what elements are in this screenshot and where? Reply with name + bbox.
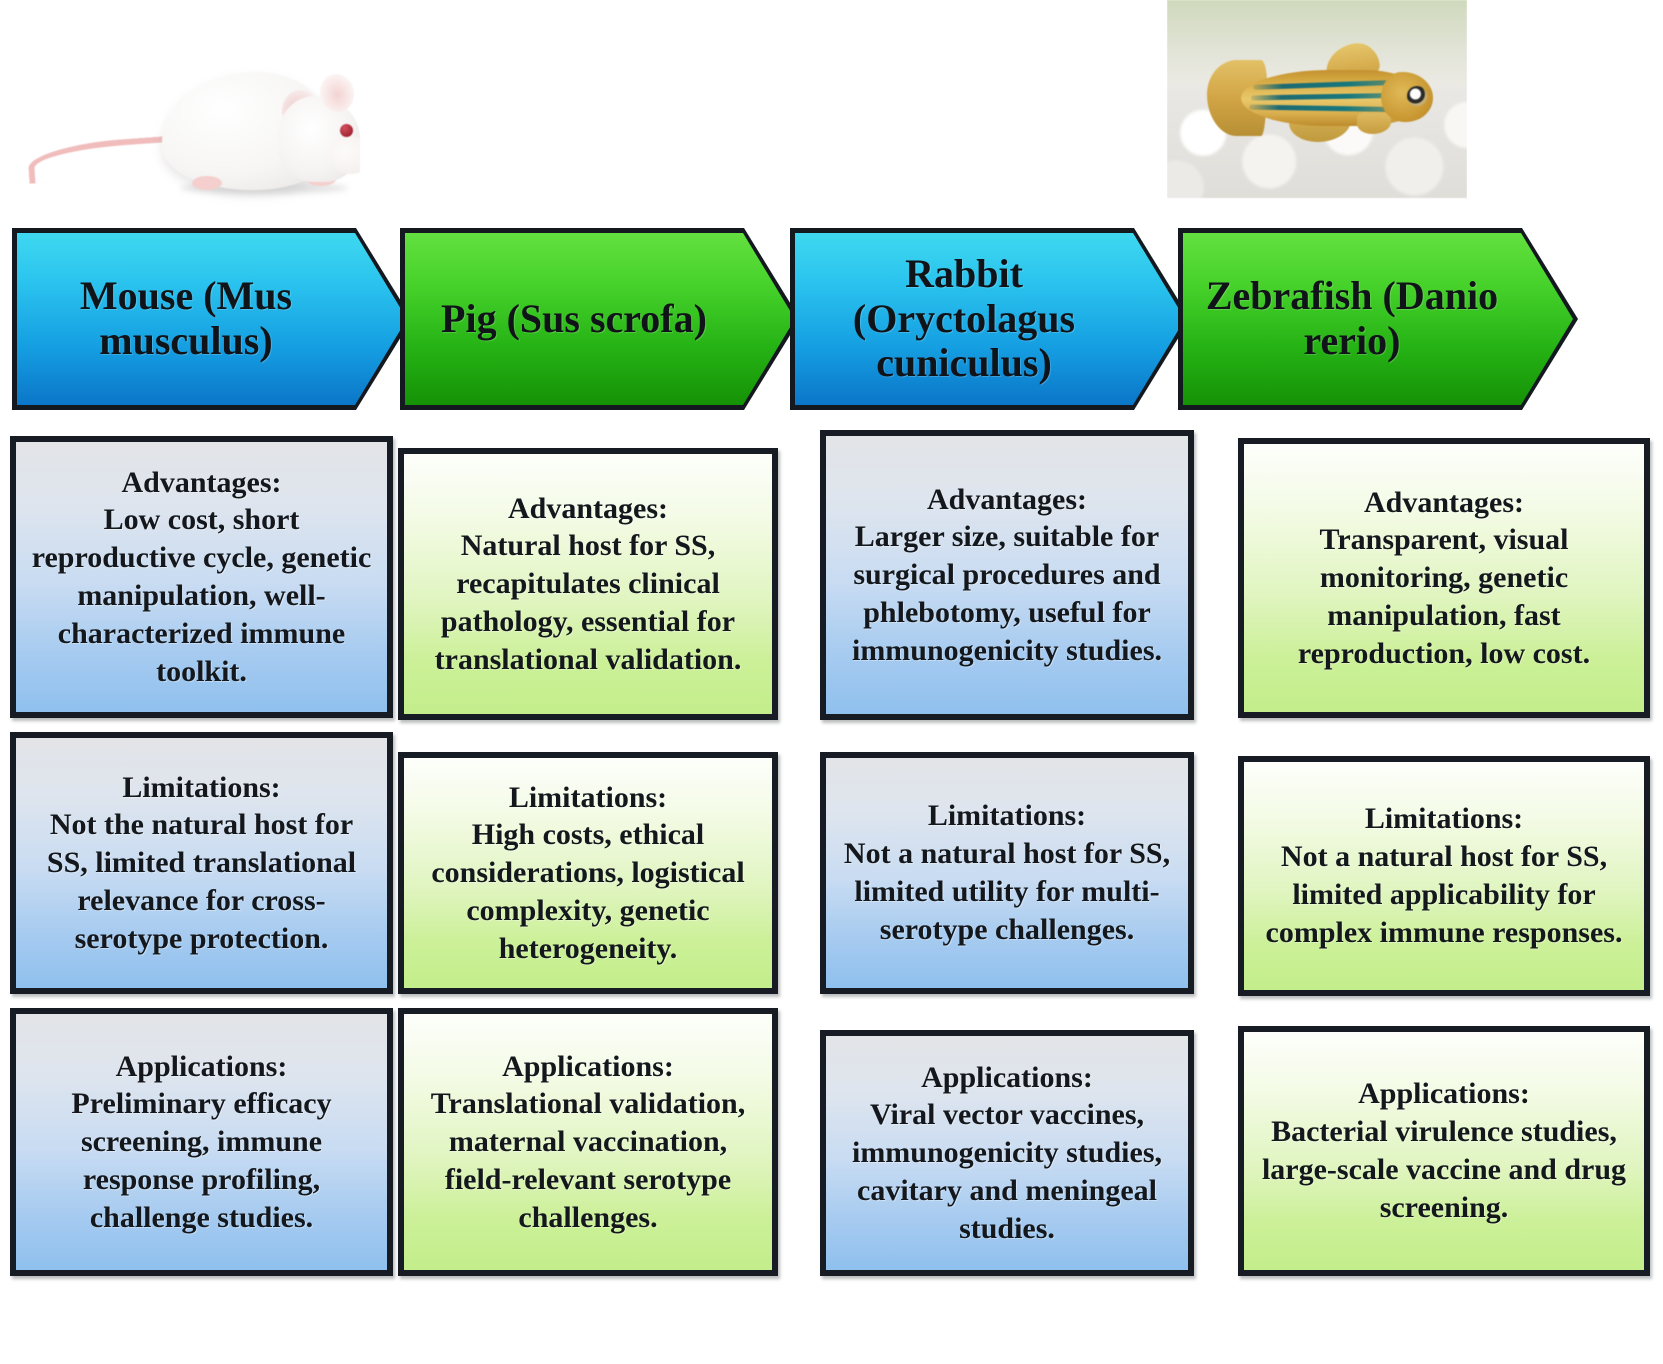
zebrafish-photo	[1167, 0, 1467, 218]
banner-zebrafish-label: Zebrafish (Danio rerio)	[1183, 274, 1573, 364]
cell-mouse-limitations: Limitations: Not the natural host for SS…	[10, 732, 393, 994]
cell-zebrafish-limitations: Limitations: Not a natural host for SS, …	[1238, 756, 1650, 996]
cell-zebrafish-advantages: Advantages: Transparent, visual monitori…	[1238, 438, 1650, 718]
animal-photo-strip	[0, 0, 1663, 228]
mouse-photo	[10, 0, 360, 216]
cell-text: Limitations: Not a natural host for SS, …	[1244, 794, 1644, 957]
banner-pig[interactable]: Pig (Sus scrofa)	[400, 228, 800, 410]
cell-pig-limitations: Limitations: High costs, ethical conside…	[398, 752, 778, 994]
cell-text: Limitations: High costs, ethical conside…	[404, 773, 772, 974]
rabbit-photo	[800, 0, 1080, 216]
cell-zebrafish-applications: Applications: Bacterial virulence studie…	[1238, 1026, 1650, 1276]
cell-text: Limitations: Not the natural host for SS…	[16, 763, 387, 964]
pig-photo	[380, 0, 730, 218]
cell-rabbit-applications: Applications: Viral vector vaccines, imm…	[820, 1030, 1194, 1276]
mouse-snout-icon	[330, 136, 360, 174]
cell-mouse-applications: Applications: Preliminary efficacy scree…	[10, 1008, 393, 1276]
banner-mouse[interactable]: Mouse (Mus musculus)	[12, 228, 412, 410]
cell-text: Applications: Viral vector vaccines, imm…	[826, 1053, 1188, 1254]
cell-rabbit-limitations: Limitations: Not a natural host for SS, …	[820, 752, 1194, 994]
mouse-forefoot-icon	[192, 176, 222, 190]
fish-eye-icon	[1407, 86, 1427, 106]
banner-zebrafish[interactable]: Zebrafish (Danio rerio)	[1178, 228, 1578, 410]
banner-mouse-label: Mouse (Mus musculus)	[17, 274, 407, 364]
cell-text: Advantages: Transparent, visual monitori…	[1244, 478, 1644, 679]
model-banner-row: Mouse (Mus musculus) Pig (Sus scrofa) Ra…	[0, 228, 1663, 418]
cell-text: Advantages: Low cost, short reproductive…	[16, 458, 387, 697]
cell-rabbit-advantages: Advantages: Larger size, suitable for su…	[820, 430, 1194, 720]
animal-model-comparison-figure: Mouse (Mus musculus) Pig (Sus scrofa) Ra…	[0, 0, 1663, 1364]
banner-rabbit[interactable]: Rabbit (Oryctolagus cuniculus)	[790, 228, 1190, 410]
cell-mouse-advantages: Advantages: Low cost, short reproductive…	[10, 436, 393, 718]
cell-text: Advantages: Larger size, suitable for su…	[826, 475, 1188, 676]
cell-text: Applications: Translational validation, …	[404, 1042, 772, 1243]
cell-text: Applications: Preliminary efficacy scree…	[16, 1042, 387, 1243]
mouse-eye-icon	[340, 124, 353, 137]
cell-text: Limitations: Not a natural host for SS, …	[826, 791, 1188, 954]
cell-text: Applications: Bacterial virulence studie…	[1244, 1069, 1644, 1232]
cell-text: Advantages: Natural host for SS, recapit…	[404, 484, 772, 685]
cell-pig-applications: Applications: Translational validation, …	[398, 1008, 778, 1276]
banner-rabbit-label: Rabbit (Oryctolagus cuniculus)	[795, 252, 1185, 386]
cell-pig-advantages: Advantages: Natural host for SS, recapit…	[398, 448, 778, 720]
banner-pig-label: Pig (Sus scrofa)	[431, 297, 769, 342]
